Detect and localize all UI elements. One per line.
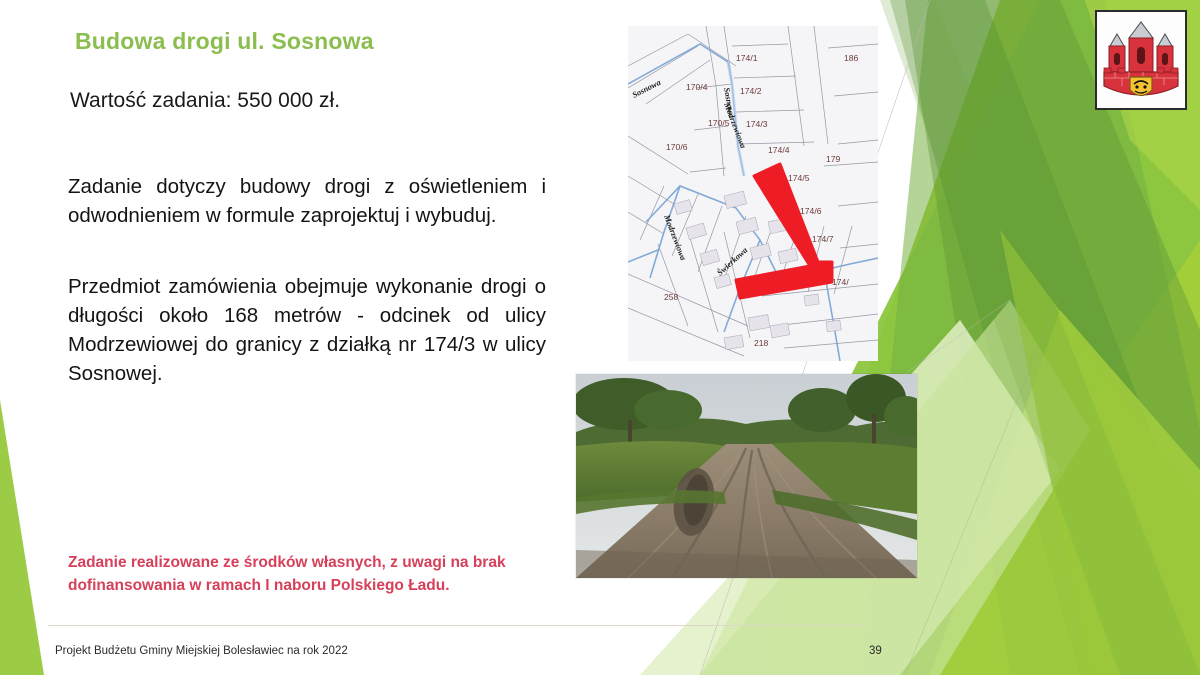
task-value-line: Wartość zadania: 550 000 zł.: [70, 89, 340, 113]
map-parcel-label: 174/1: [736, 53, 758, 63]
page-number: 39: [869, 645, 882, 657]
map-parcel-label: 258: [664, 292, 679, 302]
page-title: Budowa drogi ul. Sosnowa: [75, 28, 374, 55]
footer-divider: [48, 625, 866, 626]
slide-canvas: Budowa drogi ul. Sosnowa Wartość zadania…: [0, 0, 1200, 675]
map-parcel-label: 174/: [832, 277, 849, 287]
coat-of-arms-icon: [1093, 8, 1189, 112]
map-parcel-label: 174/6: [800, 206, 822, 216]
map-parcel-label: 218: [754, 338, 769, 348]
map-parcel-label: 170/4: [686, 82, 708, 92]
map-parcel-label: 179: [826, 154, 841, 164]
funding-note: Zadanie realizowane ze środków własnych,…: [68, 551, 550, 598]
description-paragraph-2: Przedmiot zamówienia obejmuje wykonanie …: [68, 272, 546, 388]
site-photograph: [576, 374, 917, 578]
map-parcel-label: 170/5: [708, 118, 730, 128]
map-parcel-label: 186: [844, 53, 859, 63]
footer-text: Projekt Budżetu Gminy Miejskiej Bolesław…: [55, 645, 348, 657]
map-parcel-label: 174/7: [812, 234, 834, 244]
map-parcel-label: 174/5: [788, 173, 810, 183]
map-parcel-label: 174/2: [740, 86, 762, 96]
cadastral-map: 174/1 174/2 174/3 174/4 174/5 174/6 174/…: [628, 26, 878, 361]
map-parcel-label: 174/3: [746, 119, 768, 129]
description-paragraph-1: Zadanie dotyczy budowy drogi z oświetlen…: [68, 172, 546, 230]
map-parcel-label: 174/4: [768, 145, 790, 155]
map-parcel-label: 170/6: [666, 142, 688, 152]
